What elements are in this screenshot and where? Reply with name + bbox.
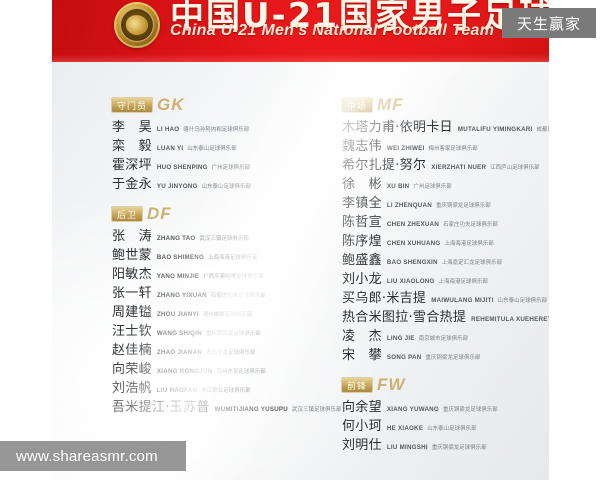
section-chip-gk: 守门员 bbox=[112, 98, 152, 112]
player-name: 刘明仕 bbox=[342, 439, 382, 452]
player-pinyin: LI HAO bbox=[157, 127, 179, 133]
player-pinyin: REHEMITULA XUEHERETI bbox=[471, 317, 549, 323]
player-row: 张一轩 ZHANG YIXUAN 石家庄功夫足球俱乐部 bbox=[112, 287, 340, 300]
player-club: 江西庐山足球俱乐部 bbox=[490, 166, 539, 171]
player-pinyin: LIU XIAOLONG bbox=[387, 279, 435, 285]
player-pinyin: YU JINYONG bbox=[157, 184, 198, 190]
player-row: 凌 杰 LING JIE 南京城市足球俱乐部 bbox=[342, 330, 549, 343]
poster-header: 中国U-21国家男子足球队 China U-21 Men's National … bbox=[52, 0, 549, 62]
player-name: 希尔扎提·努尔 bbox=[342, 159, 426, 172]
player-pinyin: MAIWULANG MIJITI bbox=[431, 298, 493, 304]
player-pinyin: BAO SHENGXIN bbox=[387, 260, 438, 266]
player-row: 霍深坪 HUO SHENPING 广州足球俱乐部 bbox=[112, 159, 340, 172]
player-row: 木塔力甫·依明卡日 MUTALIFU YIMINGKARI 成都蓉城足球俱乐部 bbox=[342, 121, 549, 134]
player-club: 山东泰山足球俱乐部 bbox=[427, 427, 476, 432]
section-abbr-gk: GK bbox=[157, 95, 185, 115]
player-name: 霍深坪 bbox=[112, 159, 152, 172]
player-name: 徐 彬 bbox=[342, 178, 382, 191]
section-header-df: 后卫 DF bbox=[112, 205, 340, 223]
player-pinyin: ZHAO JIANAN bbox=[157, 350, 202, 356]
player-row: 陈序煌 CHEN XUHUANG 上海海港足球俱乐部 bbox=[342, 235, 549, 248]
player-name: 阳敏杰 bbox=[112, 268, 152, 281]
player-club: 上海海港足球俱乐部 bbox=[208, 256, 257, 261]
player-pinyin: LI ZHENQUAN bbox=[387, 203, 432, 209]
player-club: 喀什乌孙阿内和足球俱乐部 bbox=[183, 128, 249, 133]
player-club: 苏州东吴足球俱乐部 bbox=[216, 370, 265, 375]
player-club: 山东泰山足球俱乐部 bbox=[187, 147, 236, 152]
player-club: 重庆铜梁龙足球俱乐部 bbox=[443, 408, 498, 413]
player-row: 希尔扎提·努尔 XIERZHATI NUER 江西庐山足球俱乐部 bbox=[342, 159, 549, 172]
player-row: 向荣峻 XIANG RONGJUN 苏州东吴足球俱乐部 bbox=[112, 363, 340, 376]
player-pinyin: ZHOU JIANYI bbox=[157, 312, 199, 318]
player-club: 武汉三镇足球俱乐部 bbox=[292, 408, 341, 413]
player-row: 徐 彬 XU BIN 广州足球俱乐部 bbox=[342, 178, 549, 191]
player-club: 石家庄功夫足球俱乐部 bbox=[211, 294, 266, 299]
player-pinyin: HE XIAOKE bbox=[387, 426, 423, 432]
player-row: 张 涛 ZHANG TAO 武汉三镇足球俱乐部 bbox=[112, 230, 340, 243]
section-header-fw: 前锋 FW bbox=[342, 376, 549, 394]
roster-column-right: 中场 MF 木塔力甫·依明卡日 MUTALIFU YIMINGKARI 成都蓉城… bbox=[342, 96, 549, 458]
section-chip-mf: 中场 bbox=[342, 98, 372, 112]
player-pinyin: XIANG RONGJUN bbox=[157, 369, 213, 375]
player-club: 重庆铜梁龙足球俱乐部 bbox=[436, 204, 491, 209]
player-club: 广州足球俱乐部 bbox=[212, 166, 250, 171]
section-chip-df: 后卫 bbox=[112, 207, 142, 221]
section-header-mf: 中场 MF bbox=[342, 96, 549, 114]
player-club: 青岛玉龙足球俱乐部 bbox=[206, 351, 255, 356]
player-pinyin: ZHANG TAO bbox=[157, 236, 196, 242]
player-row: 买乌郎·米吉提 MAIWULANG MIJITI 山东泰山足球俱乐部 bbox=[342, 292, 549, 305]
player-name: 张 涛 bbox=[112, 230, 152, 243]
player-name: 魏志伟 bbox=[342, 140, 382, 153]
player-pinyin: XIERZHATI NUER bbox=[431, 165, 486, 171]
player-name: 热合米图拉·雪合热提 bbox=[342, 311, 466, 324]
player-pinyin: HUO SHENPING bbox=[157, 165, 208, 171]
player-name: 刘小龙 bbox=[342, 273, 382, 286]
section-gk: 守门员 GK 李 昊 LI HAO 喀什乌孙阿内和足球俱乐部 栾 毅 LUAN … bbox=[112, 96, 340, 191]
player-row: 阳敏杰 YANG MINJIE 广西平果哈嘹足球俱乐部 bbox=[112, 268, 340, 281]
section-header-gk: 守门员 GK bbox=[112, 96, 340, 114]
player-name: 向荣峻 bbox=[112, 363, 152, 376]
section-fw: 前锋 FW 向余望 XIANG YUWANG 重庆铜梁龙足球俱乐部 何小珂 HE… bbox=[342, 376, 549, 452]
player-club: 沧州雄狮足球俱乐部 bbox=[203, 313, 252, 318]
player-row: 向余望 XIANG YUWANG 重庆铜梁龙足球俱乐部 bbox=[342, 401, 549, 414]
player-row: 刘明仕 LIU MINGSHI 重庆铜梁龙足球俱乐部 bbox=[342, 439, 549, 452]
player-club: 上海海港足球俱乐部 bbox=[444, 242, 493, 247]
player-pinyin: CHEN ZHEXUAN bbox=[387, 222, 439, 228]
player-club: 重庆铜梁龙足球俱乐部 bbox=[432, 446, 487, 451]
player-pinyin: CHEN XUHUANG bbox=[387, 241, 441, 247]
player-name: 向余望 bbox=[342, 401, 382, 414]
roster-poster: 中国U-21国家男子足球队 China U-21 Men's National … bbox=[52, 0, 549, 480]
player-row: 魏志伟 WEI ZHIWEI 梅州客家足球俱乐部 bbox=[342, 140, 549, 153]
player-name: 鲍世蒙 bbox=[112, 249, 152, 262]
player-pinyin: WEI ZHIWEI bbox=[387, 146, 425, 152]
player-row: 栾 毅 LUAN YI 山东泰山足球俱乐部 bbox=[112, 140, 340, 153]
header-sheen bbox=[52, 54, 549, 62]
player-name: 栾 毅 bbox=[112, 140, 152, 153]
player-row: 赵佳楠 ZHAO JIANAN 青岛玉龙足球俱乐部 bbox=[112, 344, 340, 357]
player-name: 陈序煌 bbox=[342, 235, 382, 248]
player-pinyin: ZHANG YIXUAN bbox=[157, 293, 207, 299]
player-name: 吾米提江·玉苏普 bbox=[112, 401, 210, 414]
player-name: 陈哲宣 bbox=[342, 216, 382, 229]
section-mf: 中场 MF 木塔力甫·依明卡日 MUTALIFU YIMINGKARI 成都蓉城… bbox=[342, 96, 549, 362]
player-club: 重庆铜梁龙足球俱乐部 bbox=[206, 332, 261, 337]
player-club: 重庆铜梁龙足球俱乐部 bbox=[425, 356, 480, 361]
player-name: 李 昊 bbox=[112, 121, 152, 134]
player-club: 山东泰山足球俱乐部 bbox=[202, 185, 251, 190]
player-pinyin: XU BIN bbox=[387, 184, 409, 190]
player-name: 周建镒 bbox=[112, 306, 152, 319]
player-name: 赵佳楠 bbox=[112, 344, 152, 357]
player-row: 宋 攀 SONG PAN 重庆铜梁龙足球俱乐部 bbox=[342, 349, 549, 362]
poster-page: 中国U-21国家男子足球队 China U-21 Men's National … bbox=[0, 0, 600, 480]
player-pinyin: WUMITIJIANG YUSUPU bbox=[215, 407, 288, 413]
player-club: 石家庄功夫足球俱乐部 bbox=[443, 223, 498, 228]
player-row: 吾米提江·玉苏普 WUMITIJIANG YUSUPU 武汉三镇足球俱乐部 bbox=[112, 401, 340, 414]
player-row: 何小珂 HE XIAOKE 山东泰山足球俱乐部 bbox=[342, 420, 549, 433]
player-row: 汪士钦 WANG SHIQIN 重庆铜梁龙足球俱乐部 bbox=[112, 325, 340, 338]
player-pinyin: WANG SHIQIN bbox=[157, 331, 202, 337]
player-row: 刘浩帆 LIU HAOFAN 浙江职业足球俱乐部 bbox=[112, 382, 340, 395]
player-pinyin: LIU MINGSHI bbox=[387, 445, 428, 451]
player-row: 陈哲宣 CHEN ZHEXUAN 石家庄功夫足球俱乐部 bbox=[342, 216, 549, 229]
section-df: 后卫 DF 张 涛 ZHANG TAO 武汉三镇足球俱乐部 鲍世蒙 BAO SH… bbox=[112, 205, 340, 414]
player-row: 鲍世蒙 BAO SHIMENG 上海海港足球俱乐部 bbox=[112, 249, 340, 262]
player-row: 于金永 YU JINYONG 山东泰山足球俱乐部 bbox=[112, 178, 340, 191]
section-abbr-df: DF bbox=[147, 204, 172, 224]
player-name: 买乌郎·米吉提 bbox=[342, 292, 426, 305]
player-row: 李 昊 LI HAO 喀什乌孙阿内和足球俱乐部 bbox=[112, 121, 340, 134]
player-name: 木塔力甫·依明卡日 bbox=[342, 121, 453, 134]
player-club: 山东泰山足球俱乐部 bbox=[498, 299, 547, 304]
player-club: 上海海港足球俱乐部 bbox=[439, 280, 488, 285]
player-club: 武汉三镇足球俱乐部 bbox=[199, 237, 248, 242]
roster-column-left: 守门员 GK 李 昊 LI HAO 喀什乌孙阿内和足球俱乐部 栾 毅 LUAN … bbox=[112, 96, 340, 420]
section-abbr-fw: FW bbox=[377, 375, 405, 395]
poster-title-en: China U-21 Men's National Football Team bbox=[170, 22, 494, 40]
player-row: 周建镒 ZHOU JIANYI 沧州雄狮足球俱乐部 bbox=[112, 306, 340, 319]
corner-badge: 天生赢家 bbox=[502, 8, 596, 38]
player-name: 宋 攀 bbox=[342, 349, 382, 362]
player-row: 刘小龙 LIU XIAOLONG 上海海港足球俱乐部 bbox=[342, 273, 549, 286]
player-club: 梅州客家足球俱乐部 bbox=[428, 147, 477, 152]
player-name: 刘浩帆 bbox=[112, 382, 152, 395]
cfa-crest-icon bbox=[114, 2, 160, 48]
player-row: 李镇全 LI ZHENQUAN 重庆铜梁龙足球俱乐部 bbox=[342, 197, 549, 210]
player-pinyin: MUTALIFU YIMINGKARI bbox=[458, 127, 533, 133]
player-name: 李镇全 bbox=[342, 197, 382, 210]
player-name: 张一轩 bbox=[112, 287, 152, 300]
player-pinyin: LUAN YI bbox=[157, 146, 183, 152]
player-row: 鲍盛鑫 BAO SHENGXIN 上海嘉定汇龙足球俱乐部 bbox=[342, 254, 549, 267]
section-chip-fw: 前锋 bbox=[342, 378, 372, 392]
player-club: 成都蓉城足球俱乐部 bbox=[536, 128, 549, 133]
player-name: 汪士钦 bbox=[112, 325, 152, 338]
player-pinyin: SONG PAN bbox=[387, 355, 422, 361]
player-club: 广州足球俱乐部 bbox=[413, 185, 451, 190]
player-row: 热合米图拉·雪合热提 REHEMITULA XUEHERETI 大连英博足球俱乐… bbox=[342, 311, 549, 324]
player-club: 南京城市足球俱乐部 bbox=[419, 337, 468, 342]
player-name: 何小珂 bbox=[342, 420, 382, 433]
player-club: 广西平果哈嘹足球俱乐部 bbox=[203, 275, 263, 280]
player-pinyin: BAO SHIMENG bbox=[157, 255, 204, 261]
player-pinyin: XIANG YUWANG bbox=[387, 407, 439, 413]
player-pinyin: LING JIE bbox=[387, 336, 415, 342]
section-abbr-mf: MF bbox=[377, 95, 404, 115]
player-name: 凌 杰 bbox=[342, 330, 382, 343]
player-pinyin: LIU HAOFAN bbox=[157, 388, 197, 394]
player-club: 上海嘉定汇龙足球俱乐部 bbox=[442, 261, 502, 266]
player-name: 鲍盛鑫 bbox=[342, 254, 382, 267]
player-name: 于金永 bbox=[112, 178, 152, 191]
player-pinyin: YANG MINJIE bbox=[157, 274, 199, 280]
player-club: 浙江职业足球俱乐部 bbox=[201, 389, 250, 394]
site-watermark: www.shareasmr.com bbox=[0, 441, 186, 471]
